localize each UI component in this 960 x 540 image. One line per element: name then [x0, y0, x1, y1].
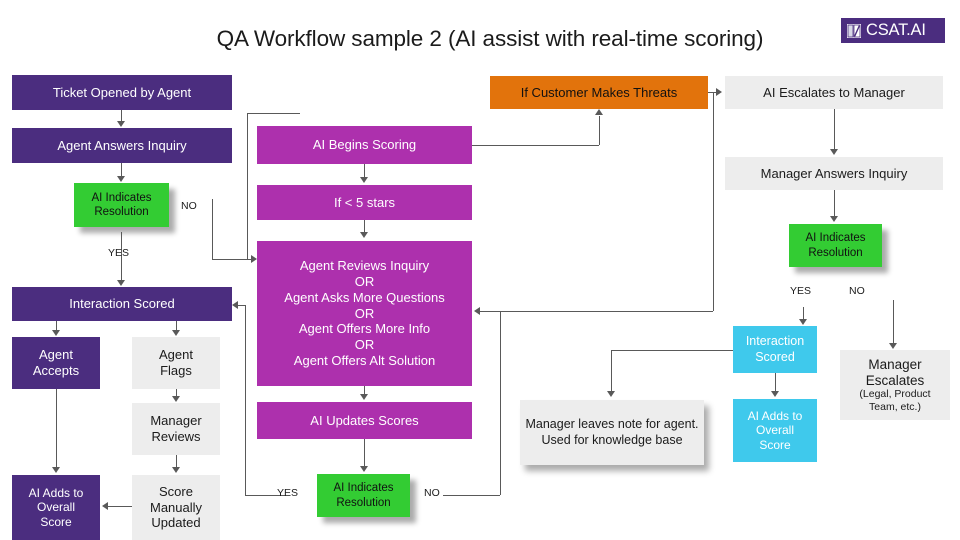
- connector-center-yes-to-scored: [238, 305, 245, 306]
- arrowhead-ticket-to-answers: [117, 121, 125, 127]
- connector-score-updated-to-ai-adds: [108, 506, 132, 507]
- node-manager-escalates-label: Manager Escalates: [844, 357, 946, 388]
- connector-accepts-to-ai-adds: [56, 389, 57, 468]
- node-if-under-five-stars[interactable]: If < 5 stars: [257, 185, 472, 220]
- connector-center-yes-vert: [245, 305, 246, 495]
- page-title: QA Workflow sample 2 (AI assist with rea…: [140, 26, 840, 52]
- node-if-under-five-stars-label: If < 5 stars: [261, 195, 468, 211]
- connector-escalates-to-answers: [834, 109, 835, 150]
- connector-right-trunk-vert: [713, 92, 714, 311]
- node-agent-reviews-options-label: Agent Reviews Inquiry OR Agent Asks More…: [261, 258, 468, 369]
- edge-label-center-yes: YES: [277, 487, 298, 499]
- connector-updates-to-ai-center: [364, 439, 365, 467]
- node-ai-adds-overall-score-right-label: AI Adds to Overall Score: [737, 409, 813, 453]
- arrowhead-reviews-to-updates: [360, 394, 368, 400]
- node-agent-flags[interactable]: Agent Flags: [132, 337, 220, 389]
- node-manager-answers-inquiry[interactable]: Manager Answers Inquiry: [725, 157, 943, 190]
- arrowhead-stars-to-reviews: [360, 232, 368, 238]
- arrowhead-scored-to-accepts: [52, 330, 60, 336]
- node-ai-updates-scores-label: AI Updates Scores: [261, 413, 468, 429]
- node-ai-updates-scores[interactable]: AI Updates Scores: [257, 402, 472, 439]
- arrowhead-flags-to-reviews: [172, 396, 180, 402]
- connector-right-no: [893, 300, 894, 343]
- node-interaction-scored-left[interactable]: Interaction Scored: [12, 287, 232, 321]
- arrowhead-begins-to-threats: [595, 109, 603, 115]
- node-ai-escalates-to-manager-label: AI Escalates to Manager: [729, 85, 939, 101]
- arrowhead-begins-to-stars: [360, 177, 368, 183]
- arrowhead-right-scored-to-note: [607, 391, 615, 397]
- arrowhead-reviews-to-score-updated: [172, 467, 180, 473]
- arrowhead-score-updated-to-ai-adds: [102, 502, 108, 510]
- logo-text: CSAT.AI: [866, 22, 926, 39]
- flowchart-canvas: QA Workflow sample 2 (AI assist with rea…: [0, 0, 960, 540]
- connector-begins-to-threats-horz: [472, 145, 599, 146]
- node-manager-reviews-label: Manager Reviews: [136, 413, 216, 445]
- connector-scored-to-flags: [176, 321, 177, 330]
- node-manager-reviews[interactable]: Manager Reviews: [132, 403, 220, 455]
- arrowhead-manager-answers-to-ai-right: [830, 216, 838, 222]
- node-ai-escalates-to-manager[interactable]: AI Escalates to Manager: [725, 76, 943, 109]
- connector-answers-to-ai-left: [121, 163, 122, 177]
- node-interaction-scored-left-label: Interaction Scored: [16, 296, 228, 312]
- node-ai-adds-overall-score-right[interactable]: AI Adds to Overall Score: [733, 399, 817, 462]
- connector-center-no-vert: [500, 311, 501, 495]
- node-ai-indicates-resolution-center-label: AI Indicates Resolution: [321, 481, 406, 509]
- node-if-customer-makes-threats-label: If Customer Makes Threats: [494, 85, 704, 101]
- node-ai-adds-overall-score-left[interactable]: AI Adds to Overall Score: [12, 475, 100, 540]
- arrowhead-threats-to-escalates: [716, 88, 722, 96]
- node-manager-leaves-note-label: Manager leaves note for agent. Used for …: [524, 417, 700, 448]
- node-interaction-scored-right-label: Interaction Scored: [737, 334, 813, 365]
- connector-begins-to-threats-vert: [599, 116, 600, 145]
- connector-center-no-to-reviews: [480, 311, 500, 312]
- arrowhead-scored-to-flags: [172, 330, 180, 336]
- node-manager-escalates[interactable]: Manager Escalates (Legal, Product Team, …: [840, 350, 950, 420]
- connector-begins-to-stars: [364, 164, 365, 177]
- arrowhead-escalates-to-answers: [830, 149, 838, 155]
- node-agent-answers-inquiry[interactable]: Agent Answers Inquiry: [12, 128, 232, 163]
- node-ai-indicates-resolution-right[interactable]: AI Indicates Resolution: [789, 224, 882, 267]
- arrowhead-ai-left-no: [251, 255, 257, 263]
- node-agent-answers-inquiry-label: Agent Answers Inquiry: [16, 138, 228, 154]
- node-ai-indicates-resolution-right-label: AI Indicates Resolution: [793, 231, 878, 259]
- connector-center-no-horz: [443, 495, 500, 496]
- edge-label-right-no: NO: [849, 285, 865, 297]
- connector-scored-to-accepts: [56, 321, 57, 330]
- node-ticket-opened[interactable]: Ticket Opened by Agent: [12, 75, 232, 110]
- node-score-manually-updated[interactable]: Score Manually Updated: [132, 475, 220, 540]
- node-ai-begins-scoring[interactable]: AI Begins Scoring: [257, 126, 472, 164]
- connector-top-feed-vert: [247, 113, 248, 259]
- connector-top-feed-horz: [247, 113, 300, 114]
- arrowhead-accepts-to-ai-adds: [52, 467, 60, 473]
- arrowhead-right-yes: [799, 319, 807, 325]
- node-if-customer-makes-threats[interactable]: If Customer Makes Threats: [490, 76, 708, 109]
- edge-label-center-no: NO: [424, 487, 440, 499]
- connector-right-scored-to-note-vert: [611, 350, 612, 392]
- arrowhead-updates-to-ai-center: [360, 466, 368, 472]
- connector-ai-left-no-horz: [212, 259, 253, 260]
- connector-ai-left-no-vert: [212, 199, 213, 259]
- node-ai-indicates-resolution-left-label: AI Indicates Resolution: [78, 191, 165, 219]
- connector-manager-answers-to-ai-right: [834, 190, 835, 217]
- node-ai-indicates-resolution-left[interactable]: AI Indicates Resolution: [74, 183, 169, 227]
- connector-right-scored-to-ai-adds: [775, 373, 776, 392]
- node-score-manually-updated-label: Score Manually Updated: [136, 484, 216, 532]
- node-agent-accepts-label: Agent Accepts: [16, 347, 96, 379]
- edge-label-left-yes: YES: [108, 247, 129, 259]
- node-manager-leaves-note[interactable]: Manager leaves note for agent. Used for …: [520, 400, 704, 465]
- arrowhead-ai-left-yes: [117, 280, 125, 286]
- node-ai-adds-overall-score-left-label: AI Adds to Overall Score: [16, 486, 96, 530]
- arrowhead-answers-to-ai-left: [117, 176, 125, 182]
- node-interaction-scored-right[interactable]: Interaction Scored: [733, 326, 817, 373]
- csat-book-mark-icon: [846, 23, 862, 39]
- arrowhead-right-scored-to-ai-adds: [771, 391, 779, 397]
- connector-right-scored-to-note-horz: [611, 350, 733, 351]
- node-ai-indicates-resolution-center[interactable]: AI Indicates Resolution: [317, 474, 410, 517]
- node-agent-accepts[interactable]: Agent Accepts: [12, 337, 100, 389]
- arrowhead-center-no: [474, 307, 480, 315]
- node-ticket-opened-label: Ticket Opened by Agent: [16, 85, 228, 101]
- node-ai-begins-scoring-label: AI Begins Scoring: [261, 137, 468, 153]
- arrowhead-right-no: [889, 343, 897, 349]
- node-manager-answers-inquiry-label: Manager Answers Inquiry: [729, 166, 939, 182]
- edge-label-right-yes: YES: [790, 285, 811, 297]
- node-agent-reviews-options[interactable]: Agent Reviews Inquiry OR Agent Asks More…: [257, 241, 472, 386]
- csat-ai-logo: CSAT.AI: [841, 18, 945, 43]
- node-manager-escalates-sublabel: (Legal, Product Team, etc.): [844, 388, 946, 413]
- arrowhead-center-yes: [232, 301, 238, 309]
- node-agent-flags-label: Agent Flags: [136, 347, 216, 379]
- connector-right-trunk-horz: [500, 311, 713, 312]
- edge-label-left-no: NO: [181, 200, 197, 212]
- connector-flags-to-reviews: [176, 389, 177, 396]
